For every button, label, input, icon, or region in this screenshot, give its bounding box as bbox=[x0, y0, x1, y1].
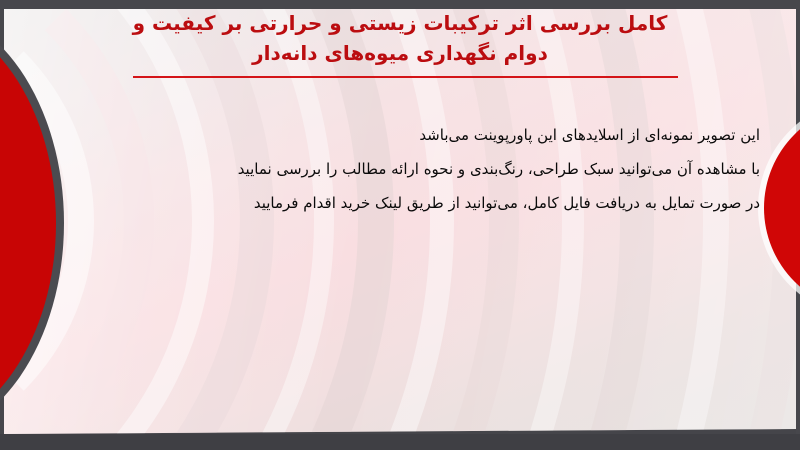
background-arc-pattern bbox=[4, 9, 796, 434]
slide-background-panel bbox=[4, 9, 796, 434]
slide-title-line-2: دوام نگهداری میوه‌های دانه‌دار bbox=[60, 38, 740, 68]
slide-body-text: این تصویر نمونه‌ای از اسلایدهای این پاور… bbox=[60, 118, 760, 220]
slide-body-line-2: با مشاهده آن می‌توانید سبک طراحی، رنگ‌بن… bbox=[60, 152, 760, 186]
slide-title-line-1: کامل بررسی اثر ترکیبات زیستی و حرارتی بر… bbox=[60, 8, 740, 38]
slide-frame-bottom bbox=[0, 434, 800, 450]
background-arc-band bbox=[4, 9, 584, 434]
slide-title: کامل بررسی اثر ترکیبات زیستی و حرارتی بر… bbox=[60, 8, 740, 68]
background-arc-band bbox=[4, 9, 654, 434]
background-arc-band bbox=[4, 9, 796, 434]
slide-body-line-3: در صورت تمایل به دریافت فایل کامل، می‌تو… bbox=[60, 186, 760, 220]
background-arc-band bbox=[4, 9, 519, 434]
presentation-slide: کامل بررسی اثر ترکیبات زیستی و حرارتی بر… bbox=[0, 0, 800, 450]
title-divider-rule bbox=[133, 76, 678, 78]
background-sheen-overlay bbox=[4, 9, 796, 434]
background-arc-band bbox=[4, 9, 454, 434]
slide-body-line-1: این تصویر نمونه‌ای از اسلایدهای این پاور… bbox=[60, 118, 760, 152]
background-arc-band bbox=[4, 9, 729, 434]
